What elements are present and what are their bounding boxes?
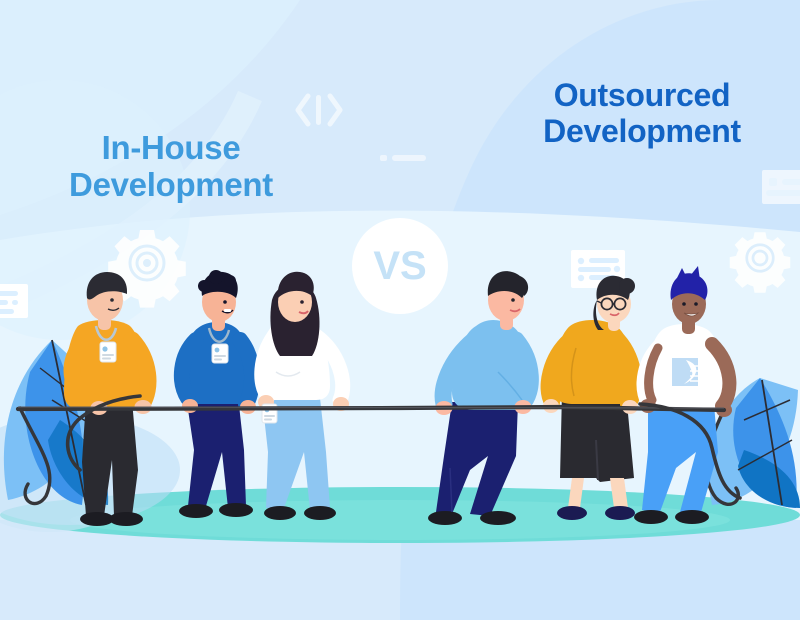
heading-in-house: In-House Development: [26, 130, 316, 204]
ground-platform-highlight: [70, 500, 730, 540]
vs-label: VS: [373, 244, 426, 289]
illustration-canvas: In-House Development Outsourced Developm…: [0, 0, 800, 620]
heading-outsourced: Outsourced Development: [492, 78, 792, 150]
vs-badge: VS: [352, 218, 448, 314]
